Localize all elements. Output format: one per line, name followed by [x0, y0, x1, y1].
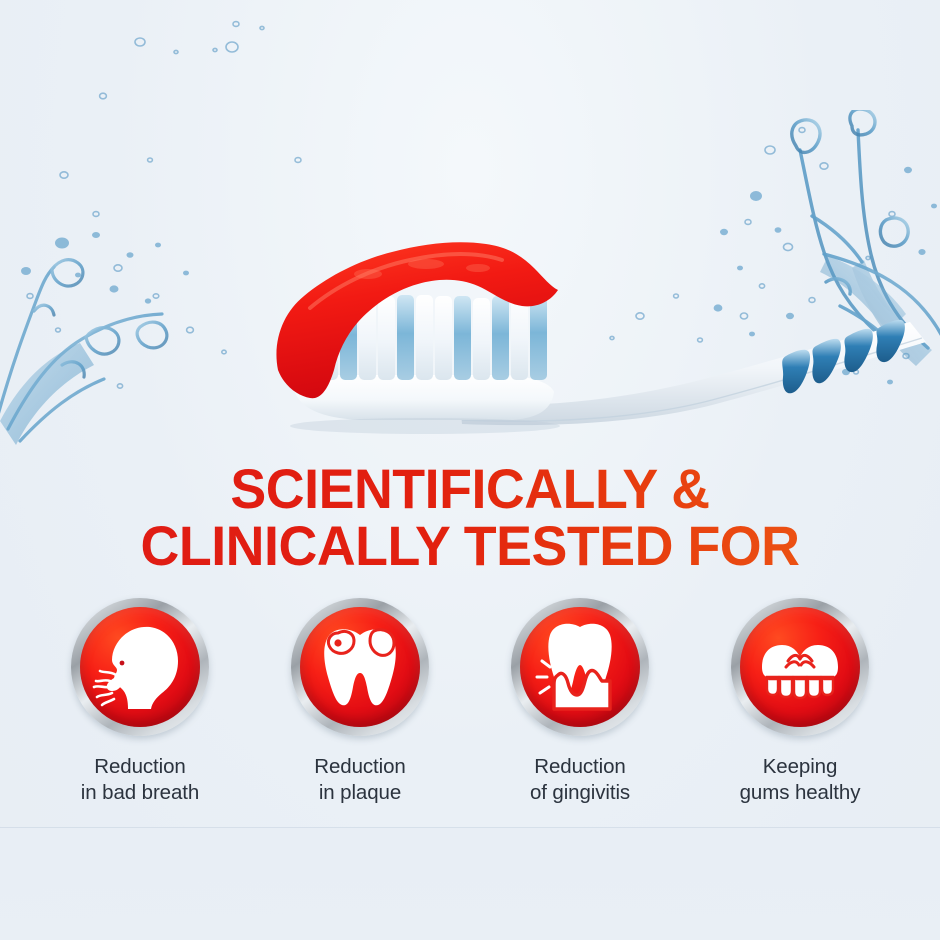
healthy-gums-teeth-icon [752, 619, 848, 715]
promo-poster: SCIENTIFICALLY & CLINICALLY TESTED FOR [0, 0, 940, 940]
bad-breath-head-icon [92, 619, 188, 715]
benefit-caption: Reduction in bad breath [81, 754, 199, 806]
caption-line-2: gums healthy [740, 780, 861, 806]
background-lower-band [0, 828, 940, 940]
benefit-caption: Reduction in plaque [314, 754, 405, 806]
headline-line-2: CLINICALLY TESTED FOR [19, 519, 921, 574]
benefit-badge [291, 598, 429, 736]
caption-line-1: Keeping [740, 754, 861, 780]
water-splash-left-icon [0, 215, 240, 455]
background-seam-line [0, 827, 940, 828]
benefit-badge [511, 598, 649, 736]
caption-line-2: in plaque [314, 780, 405, 806]
gingivitis-tooth-gum-icon [532, 619, 628, 715]
caption-line-1: Reduction [81, 754, 199, 780]
benefit-item-gingivitis: Reduction of gingivitis [508, 598, 653, 806]
benefit-badge [71, 598, 209, 736]
page-title: SCIENTIFICALLY & CLINICALLY TESTED FOR [0, 462, 940, 574]
toothbrush-icon [250, 230, 940, 440]
benefit-badge [731, 598, 869, 736]
caption-line-2: of gingivitis [530, 780, 630, 806]
caption-line-2: in bad breath [81, 780, 199, 806]
tooth-plaque-icon [312, 619, 408, 715]
benefit-item-bad-breath: Reduction in bad breath [68, 598, 213, 806]
caption-line-1: Reduction [530, 754, 630, 780]
benefit-caption: Reduction of gingivitis [530, 754, 630, 806]
benefit-caption: Keeping gums healthy [740, 754, 861, 806]
headline-line-1: SCIENTIFICALLY & [19, 462, 921, 517]
caption-line-1: Reduction [314, 754, 405, 780]
benefit-item-plaque: Reduction in plaque [288, 598, 433, 806]
benefits-row: Reduction in bad breath Reduction in pla [0, 598, 940, 806]
benefit-item-healthy-gums: Keeping gums healthy [728, 598, 873, 806]
